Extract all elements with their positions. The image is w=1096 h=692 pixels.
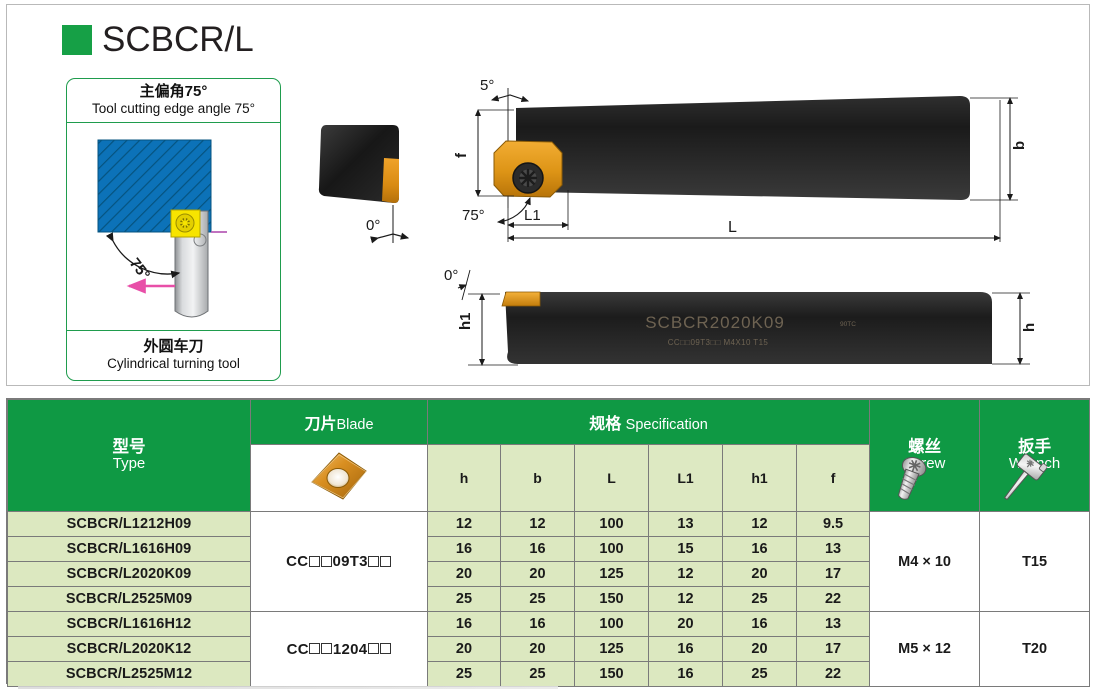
cell-L1: 12 [649, 562, 723, 587]
page-bottom-rule [18, 686, 558, 689]
subheader-f: f [797, 445, 870, 512]
screw-icon [885, 452, 933, 510]
subheader-h1: h1 [723, 445, 797, 512]
angle-75-label: 75° [126, 255, 153, 283]
wrench-icon [995, 450, 1047, 510]
subheader-L: L [575, 445, 649, 512]
tool-type-label-en: Cylindrical turning tool [107, 356, 240, 372]
engraved-brand-label: 90TC [840, 321, 856, 328]
cell-f: 17 [797, 637, 870, 662]
cutting-illustration: 75° [67, 123, 280, 332]
cell-h: 12 [428, 512, 501, 537]
page-title: SCBCR/L [62, 22, 254, 57]
cell-type: SCBCR/L1616H09 [8, 537, 251, 562]
dim-L1-label: L1 [524, 207, 541, 224]
subheader-b: b [501, 445, 575, 512]
blade-box-icon [309, 643, 320, 654]
feature-card-header: 主偏角75° Tool cutting edge angle 75° [67, 79, 280, 123]
header-spec-cn: 规格 [589, 416, 621, 433]
blade-box-icon [368, 556, 379, 567]
cell-b: 20 [501, 637, 575, 662]
cell-L: 125 [575, 562, 649, 587]
specification-table: 型号 Type 刀片Blade 规格 Specification 螺丝 Scre… [6, 398, 1090, 684]
cell-L1: 12 [649, 587, 723, 612]
cell-L: 125 [575, 637, 649, 662]
engraved-sub-label: CC□□09T3□□ M4X10 T15 [668, 338, 769, 347]
subheader-h: h [428, 445, 501, 512]
cell-h: 25 [428, 662, 501, 687]
cell-type: SCBCR/L2525M12 [8, 662, 251, 687]
header-specification: 规格 Specification [428, 400, 870, 445]
cell-L: 150 [575, 662, 649, 687]
cell-screw-group-1: M4 × 10 [870, 512, 980, 612]
cell-h: 20 [428, 637, 501, 662]
cell-L: 100 [575, 537, 649, 562]
cell-L: 150 [575, 587, 649, 612]
brand-square-icon [62, 25, 92, 55]
cell-blade-code-group-1: CC09T3 [251, 512, 428, 612]
side-rake-angle-label: 0° [444, 267, 458, 284]
cell-f: 22 [797, 662, 870, 687]
blade-prefix: CC [286, 553, 308, 570]
blade-box-icon [368, 643, 379, 654]
cell-h1: 25 [723, 587, 797, 612]
blade-box-icon [380, 643, 391, 654]
tool-type-label-cn: 外圆车刀 [143, 338, 203, 356]
table-row: SCBCR/L1212H09 CC09T3 12 12 100 13 12 9.… [8, 512, 1090, 537]
tool-top-view: 5° f 75° L1 L [440, 70, 1040, 255]
blade-insert-image [251, 445, 428, 512]
cell-type: SCBCR/L2020K12 [8, 637, 251, 662]
insert-photo-icon [302, 447, 376, 505]
cell-h1: 16 [723, 612, 797, 637]
subheader-L1: L1 [649, 445, 723, 512]
cell-h: 16 [428, 612, 501, 637]
blade-box-icon [380, 556, 391, 567]
cell-blade-code-group-2: CC1204 [251, 612, 428, 687]
cell-f: 17 [797, 562, 870, 587]
blade-mid: 1204 [333, 641, 368, 658]
end-view-angle-label: 0° [366, 217, 380, 234]
cutting-angle-label-cn: 主偏角75° [140, 84, 208, 101]
cell-h1: 12 [723, 512, 797, 537]
cell-L1: 13 [649, 512, 723, 537]
cell-b: 25 [501, 587, 575, 612]
approach-angle-label: 75° [462, 207, 485, 224]
header-blade-cn: 刀片 [304, 416, 336, 433]
cell-h: 20 [428, 562, 501, 587]
cell-h1: 20 [723, 637, 797, 662]
header-spec-en: Specification [626, 417, 708, 433]
dim-b-label: b [1011, 141, 1028, 150]
cell-wrench-group-1: T15 [980, 512, 1090, 612]
cell-L1: 16 [649, 637, 723, 662]
tool-top-view-svg: 5° f 75° L1 L [440, 70, 1040, 250]
product-spec-sheet: SCBCR/L 主偏角75° Tool cutting edge angle 7… [0, 0, 1096, 692]
cell-f: 9.5 [797, 512, 870, 537]
dim-f-label: f [453, 152, 470, 158]
cell-L: 100 [575, 612, 649, 637]
blade-box-icon [321, 556, 332, 567]
blade-box-icon [309, 556, 320, 567]
blade-mid: 09T3 [332, 553, 367, 570]
cell-h1: 25 [723, 662, 797, 687]
cell-L1: 16 [649, 662, 723, 687]
cutting-angle-label-en: Tool cutting edge angle 75° [92, 101, 255, 117]
dim-L-label: L [728, 219, 737, 236]
cell-f: 22 [797, 587, 870, 612]
header-type-cn: 型号 [8, 438, 250, 456]
header-type-en: Type [8, 456, 250, 473]
header-type: 型号 Type [8, 400, 251, 512]
cell-h1: 16 [723, 537, 797, 562]
tool-side-view-svg: 0° SCBCR2020K09 CC□□09T3□□ M4X10 T15 90T… [440, 252, 1040, 387]
cell-h: 25 [428, 587, 501, 612]
cell-type: SCBCR/L2020K09 [8, 562, 251, 587]
table-row: SCBCR/L1616H12 CC1204 16 16 100 20 16 13… [8, 612, 1090, 637]
cell-screw-group-2: M5 × 12 [870, 612, 980, 687]
cell-h: 16 [428, 537, 501, 562]
feature-card-footer: 外圆车刀 Cylindrical turning tool [67, 330, 280, 380]
blade-box-icon [321, 643, 332, 654]
cell-f: 13 [797, 537, 870, 562]
dim-h-label: h [1021, 323, 1038, 332]
cell-b: 20 [501, 562, 575, 587]
cell-L1: 15 [649, 537, 723, 562]
cell-b: 12 [501, 512, 575, 537]
table-header-row-1: 型号 Type 刀片Blade 规格 Specification 螺丝 Scre… [8, 400, 1090, 445]
cell-type: SCBCR/L2525M09 [8, 587, 251, 612]
engraved-model-label: SCBCR2020K09 [645, 313, 785, 332]
cell-type: SCBCR/L1212H09 [8, 512, 251, 537]
cell-b: 16 [501, 537, 575, 562]
blade-prefix: CC [287, 641, 309, 658]
cell-b: 16 [501, 612, 575, 637]
wrench-icon-wrap [995, 450, 1047, 515]
cell-f: 13 [797, 612, 870, 637]
cell-b: 25 [501, 662, 575, 687]
series-title: SCBCR/L [102, 22, 254, 57]
cell-L1: 20 [649, 612, 723, 637]
header-blade-en: Blade [336, 417, 373, 433]
cell-type: SCBCR/L1616H12 [8, 612, 251, 637]
tool-side-view: 0° SCBCR2020K09 CC□□09T3□□ M4X10 T15 90T… [440, 252, 1040, 392]
lead-angle-label: 5° [480, 77, 494, 94]
dim-h1-label: h1 [457, 312, 474, 330]
cutting-diagram-svg: 75° [67, 123, 280, 332]
cell-wrench-group-2: T20 [980, 612, 1090, 687]
feature-card: 主偏角75° Tool cutting edge angle 75° [66, 78, 281, 381]
screw-icon-wrap [885, 452, 933, 515]
cell-h1: 20 [723, 562, 797, 587]
cell-L: 100 [575, 512, 649, 537]
header-blade: 刀片Blade [251, 400, 428, 445]
